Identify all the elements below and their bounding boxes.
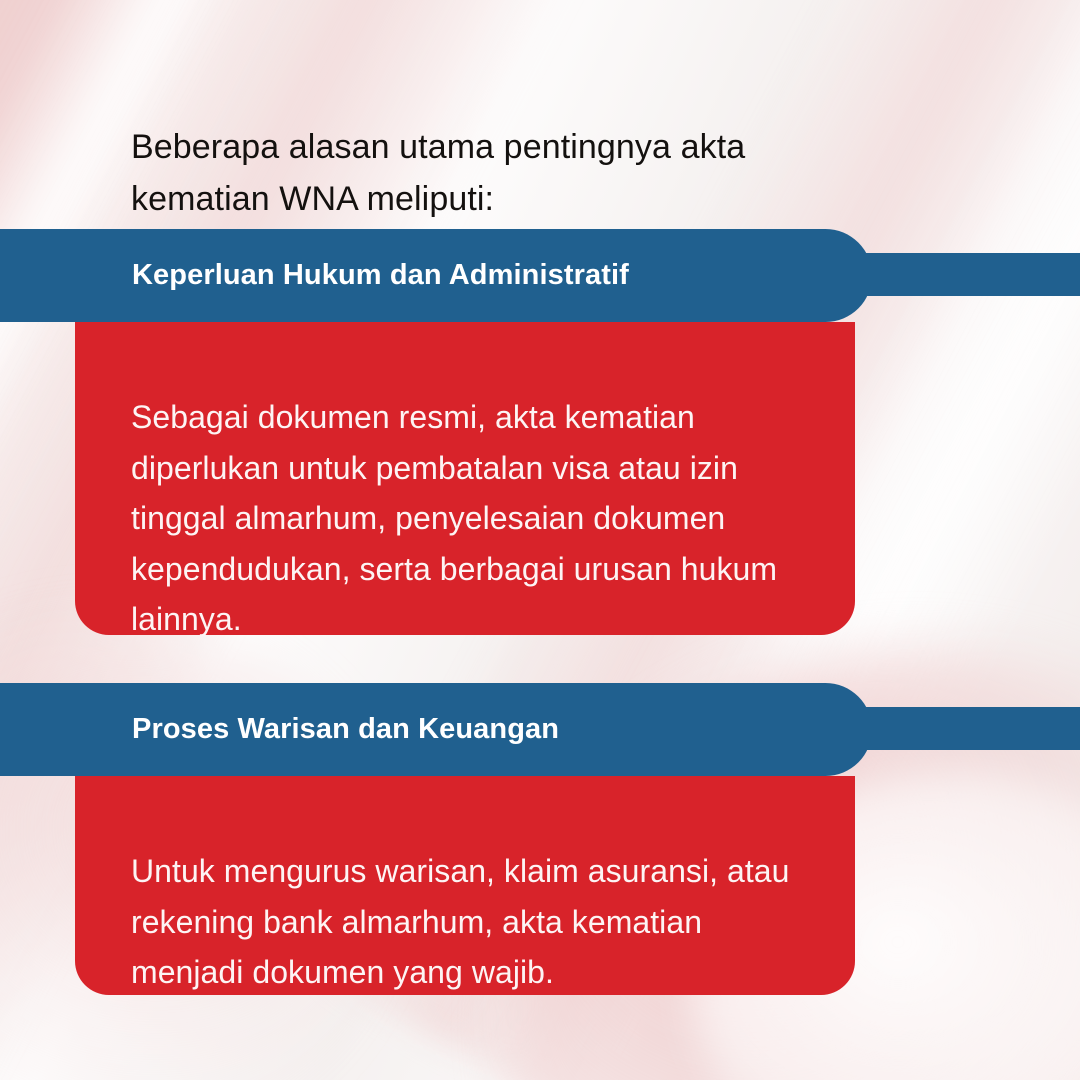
section-body-text: Untuk mengurus warisan, klaim asuransi, … xyxy=(131,846,799,998)
section-header-bar: Keperluan Hukum dan Administratif xyxy=(0,229,872,322)
section-body-text: Sebagai dokumen resmi, akta kematian dip… xyxy=(131,392,799,645)
section-body-card: Sebagai dokumen resmi, akta kematian dip… xyxy=(75,322,855,635)
intro-paragraph: Beberapa alasan utama pentingnya akta ke… xyxy=(131,122,891,225)
section-body-card: Untuk mengurus warisan, klaim asuransi, … xyxy=(75,776,855,995)
infographic-canvas: Beberapa alasan utama pentingnya akta ke… xyxy=(0,0,1080,1080)
section-heading: Keperluan Hukum dan Administratif xyxy=(132,259,629,292)
section-header-bar: Proses Warisan dan Keuangan xyxy=(0,683,872,776)
section-heading: Proses Warisan dan Keuangan xyxy=(132,713,559,746)
